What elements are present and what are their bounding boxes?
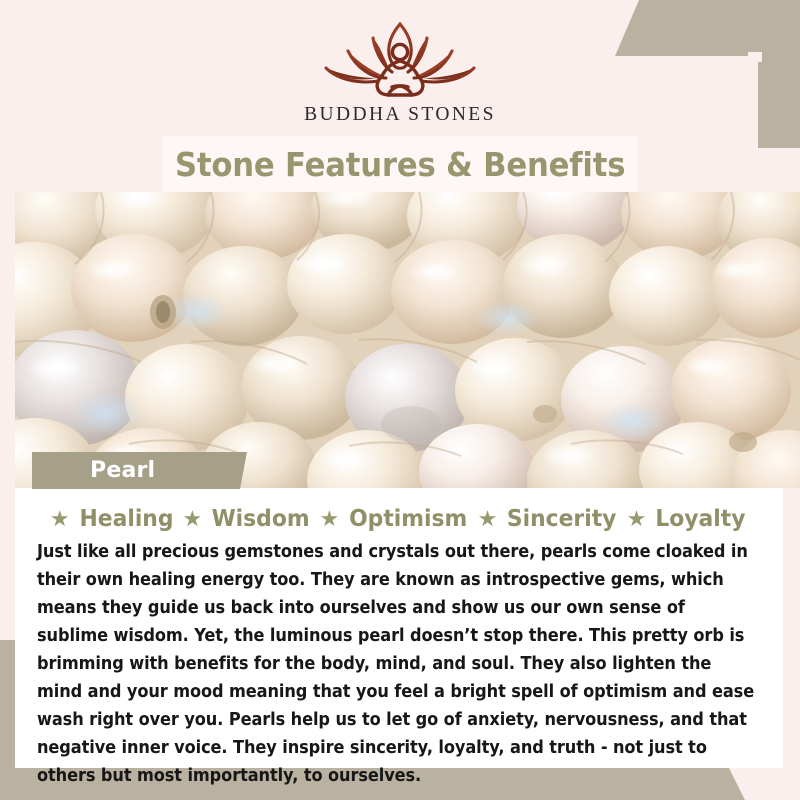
stone-name: Pearl — [32, 458, 155, 483]
star-icon: ★ — [319, 508, 339, 530]
content-panel: ★ Healing ★ Wisdom ★ Optimism ★ Sincerit… — [15, 488, 783, 768]
lotus-meditation-icon — [318, 16, 482, 102]
stone-name-bar: Pearl — [32, 452, 247, 489]
star-icon: ★ — [50, 508, 70, 530]
description-text: Just like all precious gemstones and cry… — [37, 538, 757, 790]
keyword-label: Optimism — [349, 506, 467, 532]
keyword-item-0: ★ Healing — [50, 506, 176, 532]
brand-name: BUDDHA STONES — [304, 104, 496, 126]
pearl-photo-illustration — [15, 192, 800, 488]
keyword-label: Loyalty — [656, 506, 746, 532]
star-icon: ★ — [478, 508, 498, 530]
stone-photo — [15, 192, 800, 488]
keyword-item-3: ★ Sincerity — [478, 506, 620, 532]
page-title: Stone Features & Benefits — [175, 145, 625, 184]
keyword-label: Sincerity — [507, 506, 617, 532]
brand-logo-block: BUDDHA STONES — [0, 0, 800, 148]
keyword-item-4: ★ Loyalty — [627, 506, 749, 532]
star-icon: ★ — [627, 508, 647, 530]
keyword-item-2: ★ Optimism — [319, 506, 470, 532]
poster-canvas: BUDDHA STONES Stone Features & Benefits — [0, 0, 800, 800]
star-icon: ★ — [183, 508, 203, 530]
title-banner: Stone Features & Benefits — [163, 136, 637, 192]
keyword-item-1: ★ Wisdom — [183, 506, 313, 532]
keyword-label: Wisdom — [212, 506, 310, 532]
keyword-list: ★ Healing ★ Wisdom ★ Optimism ★ Sincerit… — [37, 506, 761, 532]
keyword-label: Healing — [79, 506, 173, 532]
